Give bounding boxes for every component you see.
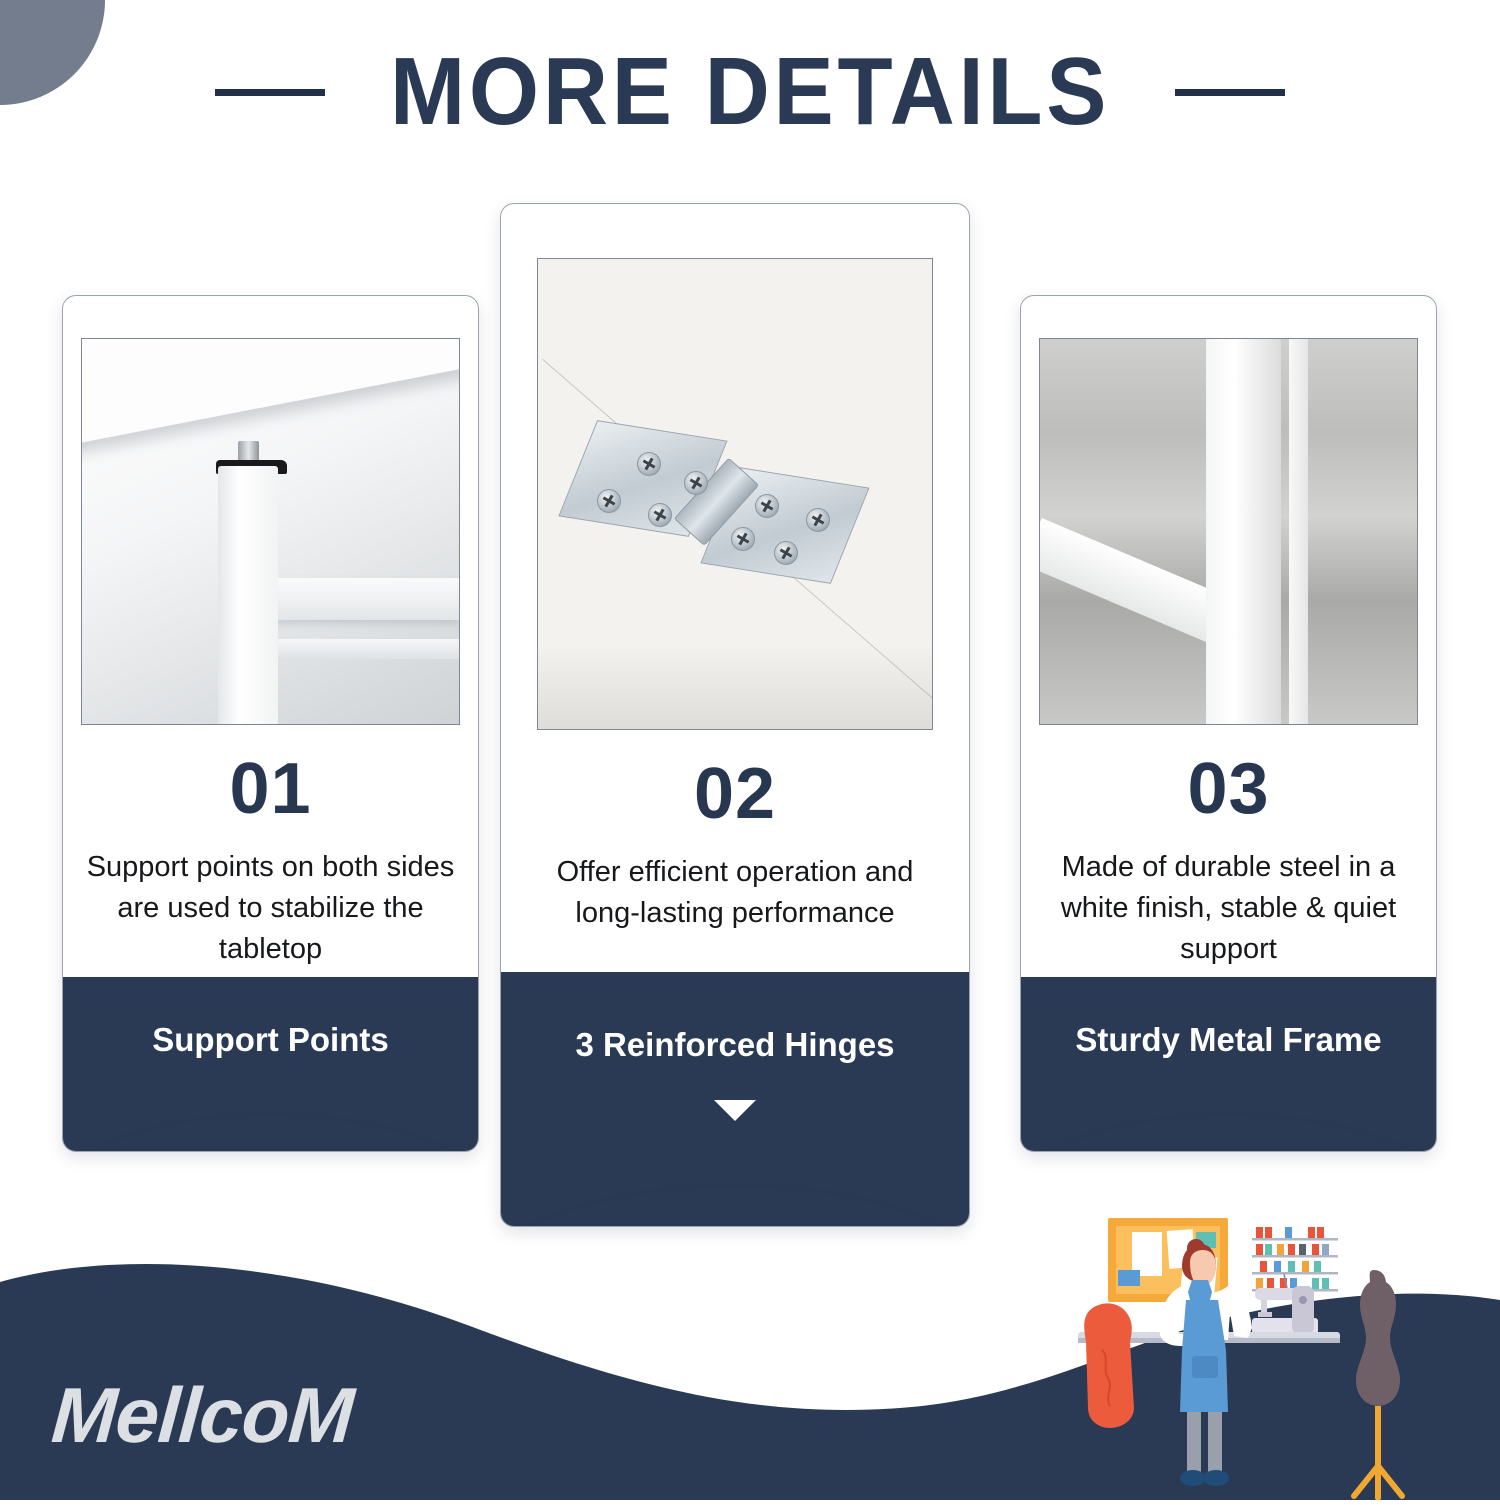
card-banner-label-01: Support Points bbox=[152, 1021, 388, 1059]
seamstress-sewing-room-illustration bbox=[1056, 1200, 1476, 1500]
card-number-03: 03 bbox=[1021, 753, 1436, 825]
page-header: MORE DETAILS bbox=[0, 32, 1500, 152]
banner-curve-shape-01 bbox=[62, 1117, 479, 1152]
card-number-01: 01 bbox=[63, 753, 478, 825]
brand-logo: MellcoM bbox=[49, 1376, 355, 1454]
header-dash-right-icon bbox=[1175, 89, 1285, 96]
chevron-down-icon[interactable] bbox=[714, 1100, 756, 1121]
card-banner-label-03: Sturdy Metal Frame bbox=[1075, 1021, 1381, 1059]
feature-cards-row: 01 Support points on both sides are used… bbox=[0, 0, 1500, 1260]
card-number-02: 02 bbox=[501, 758, 969, 830]
header-dash-left-icon bbox=[215, 89, 325, 96]
metal-hinge-closeup-photo bbox=[537, 258, 933, 730]
card-description-02: Offer efficient operation and long-lasti… bbox=[501, 830, 969, 972]
feature-card-01[interactable]: 01 Support points on both sides are used… bbox=[62, 295, 479, 1152]
card-banner-03: Sturdy Metal Frame bbox=[1021, 977, 1436, 1151]
feature-card-03[interactable]: 03 Made of durable steel in a white fini… bbox=[1020, 295, 1437, 1152]
banner-curve-shape-03 bbox=[1020, 1117, 1437, 1152]
banner-curve-shape-02 bbox=[500, 1188, 970, 1227]
white-metal-frame-photo bbox=[1039, 338, 1418, 725]
table-leg-support-point-photo bbox=[81, 338, 460, 725]
card-banner-02: 3 Reinforced Hinges bbox=[501, 972, 969, 1226]
page-title: MORE DETAILS bbox=[390, 44, 1110, 140]
feature-card-02[interactable]: 02 Offer efficient operation and long-la… bbox=[500, 203, 970, 1227]
card-description-03: Made of durable steel in a white finish,… bbox=[1021, 825, 1436, 977]
card-banner-label-02: 3 Reinforced Hinges bbox=[575, 1026, 894, 1064]
card-banner-01: Support Points bbox=[63, 977, 478, 1151]
card-description-01: Support points on both sides are used to… bbox=[63, 825, 478, 977]
